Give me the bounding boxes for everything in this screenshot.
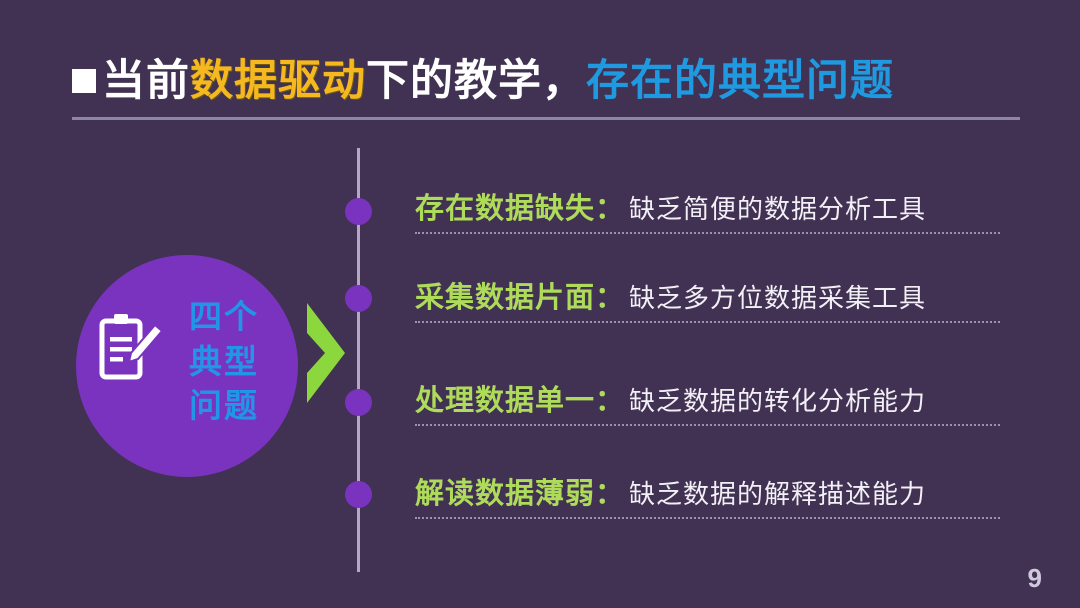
list-item-heading: 解读数据薄弱： [415,470,625,512]
list-item: 解读数据薄弱： 缺乏数据的解释描述能力 [415,470,1015,512]
list-item-description: 缺乏数据的转化分析能力 [629,381,926,418]
square-bullet-icon [72,69,96,93]
title-segment-highlight-blue: 存在的典型问题 [586,60,894,103]
list-item-separator [415,232,1000,234]
clipboard-pencil-icon [98,311,164,387]
summary-circle: 四个典型问题 [76,255,298,477]
list-item: 存在数据缺失： 缺乏简便的数据分析工具 [415,185,1015,227]
timeline-dot [345,198,372,225]
list-item-separator [415,321,1000,323]
timeline-dot [345,481,372,508]
timeline-dot [345,389,372,416]
timeline-dot [345,285,372,312]
list-item-description: 缺乏数据的解释描述能力 [629,474,926,511]
list-item-description: 缺乏多方位数据采集工具 [629,278,926,315]
list-item-heading: 采集数据片面： [415,274,625,316]
list-item-description: 缺乏简便的数据分析工具 [629,189,926,226]
summary-circle-label: 四个典型问题 [172,295,276,429]
list-item: 采集数据片面： 缺乏多方位数据采集工具 [415,274,1015,316]
slide-canvas: 当前 数据驱动 下的教学， 存在的典型问题 四个典型问题 存在数据 [0,0,1080,608]
list-item-heading: 处理数据单一： [415,377,625,419]
chevron-right-icon [303,303,347,403]
page-number: 9 [1028,563,1042,594]
list-item: 处理数据单一： 缺乏数据的转化分析能力 [415,377,1015,419]
list-item-separator [415,424,1000,426]
title-segment-plain-1: 当前 [102,60,190,103]
list-item-heading: 存在数据缺失： [415,185,625,227]
title-divider [72,117,1020,120]
page-title: 当前 数据驱动 下的教学， 存在的典型问题 [72,50,1020,112]
title-segment-plain-2: 下的教学， [366,60,586,103]
list-item-separator [415,517,1000,519]
title-segment-highlight-yellow: 数据驱动 [190,60,366,103]
